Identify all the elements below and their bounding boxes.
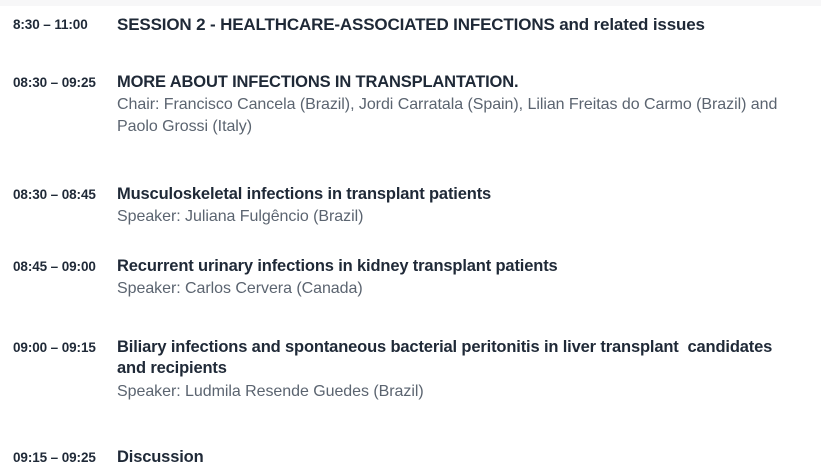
- agenda-row-discussion: 09:15 – 09:25 Discussion: [0, 447, 821, 468]
- discussion-time: 09:15 – 09:25: [0, 447, 117, 465]
- block-time: 08:30 – 09:25: [0, 72, 117, 90]
- agenda-row-biliary: 09:00 – 09:15 Biliary infections and spo…: [0, 337, 821, 402]
- agenda-row-musculoskeletal: 08:30 – 08:45 Musculoskeletal infections…: [0, 184, 821, 228]
- talk-biliary-detail: Biliary infections and spontaneous bacte…: [117, 337, 821, 402]
- talk-recurrent-urinary-time: 08:45 – 09:00: [0, 256, 117, 274]
- talk-biliary-title: Biliary infections and spontaneous bacte…: [117, 337, 793, 380]
- discussion-title: Discussion: [117, 447, 793, 468]
- talk-musculoskeletal-title: Musculoskeletal infections in transplant…: [117, 184, 793, 205]
- session-header-time: 8:30 – 11:00: [0, 14, 117, 32]
- talk-musculoskeletal-detail: Musculoskeletal infections in transplant…: [117, 184, 821, 228]
- talk-biliary-speaker: Speaker: Ludmila Resende Guedes (Brazil): [117, 381, 793, 402]
- block-chairs: Chair: Francisco Cancela (Brazil), Jordi…: [117, 94, 793, 136]
- top-band: [0, 0, 821, 6]
- talk-recurrent-urinary-detail: Recurrent urinary infections in kidney t…: [117, 256, 821, 300]
- session-header-detail: SESSION 2 - HEALTHCARE-ASSOCIATED INFECT…: [117, 14, 821, 36]
- block-title: MORE ABOUT INFECTIONS IN TRANSPLANTATION…: [117, 72, 793, 93]
- talk-recurrent-urinary-speaker: Speaker: Carlos Cervera (Canada): [117, 278, 793, 299]
- discussion-detail: Discussion: [117, 447, 821, 468]
- agenda-row-recurrent-urinary: 08:45 – 09:00 Recurrent urinary infectio…: [0, 256, 821, 300]
- agenda-page: 8:30 – 11:00 SESSION 2 - HEALTHCARE-ASSO…: [0, 0, 821, 467]
- talk-biliary-time: 09:00 – 09:15: [0, 337, 117, 355]
- talk-recurrent-urinary-title: Recurrent urinary infections in kidney t…: [117, 256, 793, 277]
- talk-musculoskeletal-speaker: Speaker: Juliana Fulgêncio (Brazil): [117, 206, 793, 227]
- session-header-title: SESSION 2 - HEALTHCARE-ASSOCIATED INFECT…: [117, 14, 793, 36]
- block-detail: MORE ABOUT INFECTIONS IN TRANSPLANTATION…: [117, 72, 821, 137]
- agenda-row-session-header: 8:30 – 11:00 SESSION 2 - HEALTHCARE-ASSO…: [0, 14, 821, 36]
- talk-musculoskeletal-time: 08:30 – 08:45: [0, 184, 117, 202]
- agenda-row-more-about-infections: 08:30 – 09:25 MORE ABOUT INFECTIONS IN T…: [0, 72, 821, 137]
